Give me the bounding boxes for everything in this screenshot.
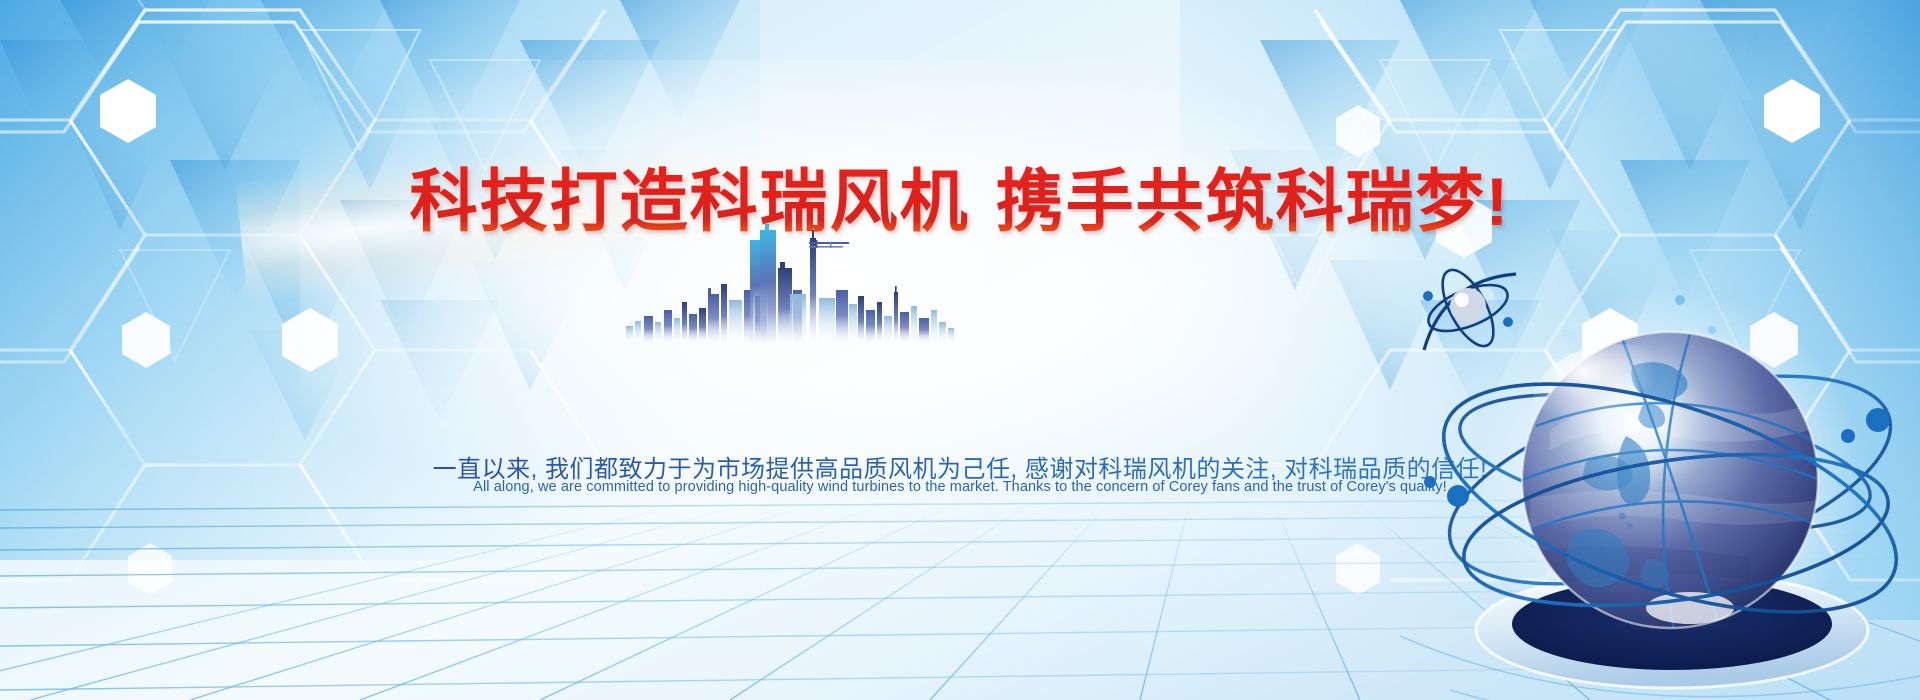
city-skyline-silhouette [620,222,960,342]
promo-banner: 科技打造科瑞风机携手共筑科瑞梦! [0,0,1920,700]
glass-globe-graphic [1390,230,1920,700]
headline-part-2: 携手共筑科瑞梦! [996,164,1511,240]
page-title: 科技打造科瑞风机携手共筑科瑞梦! [0,164,1920,240]
